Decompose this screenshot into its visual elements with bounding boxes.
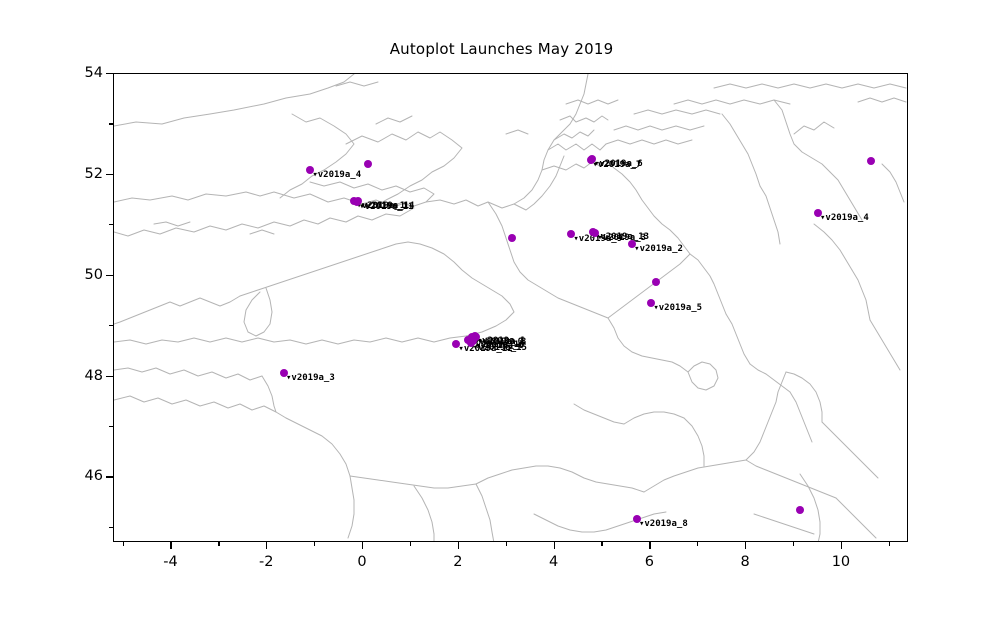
x-axis-minor-tick [314,542,315,546]
y-axis-major-tick [106,73,113,74]
scatter-point[interactable] [652,278,660,286]
page-title: Autoplot Launches May 2019 [0,40,1003,58]
y-axis-tick-label: 48 [65,368,103,384]
scatter-point-label: ▾v2019a_6 [594,160,643,169]
x-axis-major-tick [170,542,171,549]
x-axis-major-tick [458,542,459,549]
x-axis-tick-label: 10 [832,554,850,570]
y-axis-minor-tick [109,426,113,427]
y-axis-tick-label: 52 [65,166,103,182]
y-axis-minor-tick [109,527,113,528]
y-axis-major-tick [106,174,113,175]
scatter-points-layer: ▾v2019a_4▾v2019a_1▾v2019a_11▾v2019a_14▾v… [114,74,908,542]
x-axis-major-tick [649,542,650,549]
x-axis-minor-tick [889,542,890,546]
y-axis-tick-label: 54 [65,65,103,81]
x-axis-minor-tick [697,542,698,546]
scatter-point-label: ▾v2019a_3 [286,374,335,383]
scatter-point[interactable] [796,506,804,514]
y-axis-minor-tick [109,224,113,225]
scatter-point-label: ▾v2019a_4 [820,214,869,223]
y-axis-minor-tick [109,123,113,124]
scatter-point-label: ▾v2019a_15 [473,344,527,353]
x-axis-minor-tick [506,542,507,546]
x-axis-major-tick [362,542,363,549]
y-axis-minor-tick [109,325,113,326]
x-axis-minor-tick [218,542,219,546]
x-axis-tick-label: 4 [549,554,558,570]
scatter-point-label: ▾v2019a_4 [312,171,361,180]
y-axis-tick-label: 50 [65,267,103,283]
scatter-point[interactable] [364,160,372,168]
plot-axes[interactable]: ▾v2019a_4▾v2019a_1▾v2019a_11▾v2019a_14▾v… [113,73,908,542]
x-axis-tick-label: 0 [357,554,366,570]
x-axis-tick-label: 2 [453,554,462,570]
y-axis-tick-label: 46 [65,468,103,484]
x-axis-tick-label: 8 [741,554,750,570]
y-axis-major-tick [106,376,113,377]
scatter-point[interactable] [508,234,516,242]
scatter-point-label: ▾v2019a_8 [639,520,688,529]
scatter-point-label: ▾v2019a_3 [597,234,646,243]
x-axis-minor-tick [793,542,794,546]
x-axis-major-tick [745,542,746,549]
x-axis-tick-label: -4 [163,554,177,570]
y-axis-major-tick [106,275,113,276]
scatter-point[interactable] [867,157,875,165]
x-axis-minor-tick [601,542,602,546]
x-axis-major-tick [554,542,555,549]
y-axis-major-tick [106,476,113,477]
x-axis-tick-label: 6 [645,554,654,570]
x-axis-major-tick [266,542,267,549]
x-axis-tick-label: -2 [259,554,273,570]
x-axis-minor-tick [123,542,124,546]
figure-canvas: Autoplot Launches May 2019 [0,0,1003,633]
scatter-point-label: ▾v2019a_5 [653,304,702,313]
scatter-point-label: ▾v2019a_14 [360,202,414,211]
scatter-point-label: ▾v2019a_2 [634,245,683,254]
x-axis-minor-tick [410,542,411,546]
x-axis-major-tick [841,542,842,549]
